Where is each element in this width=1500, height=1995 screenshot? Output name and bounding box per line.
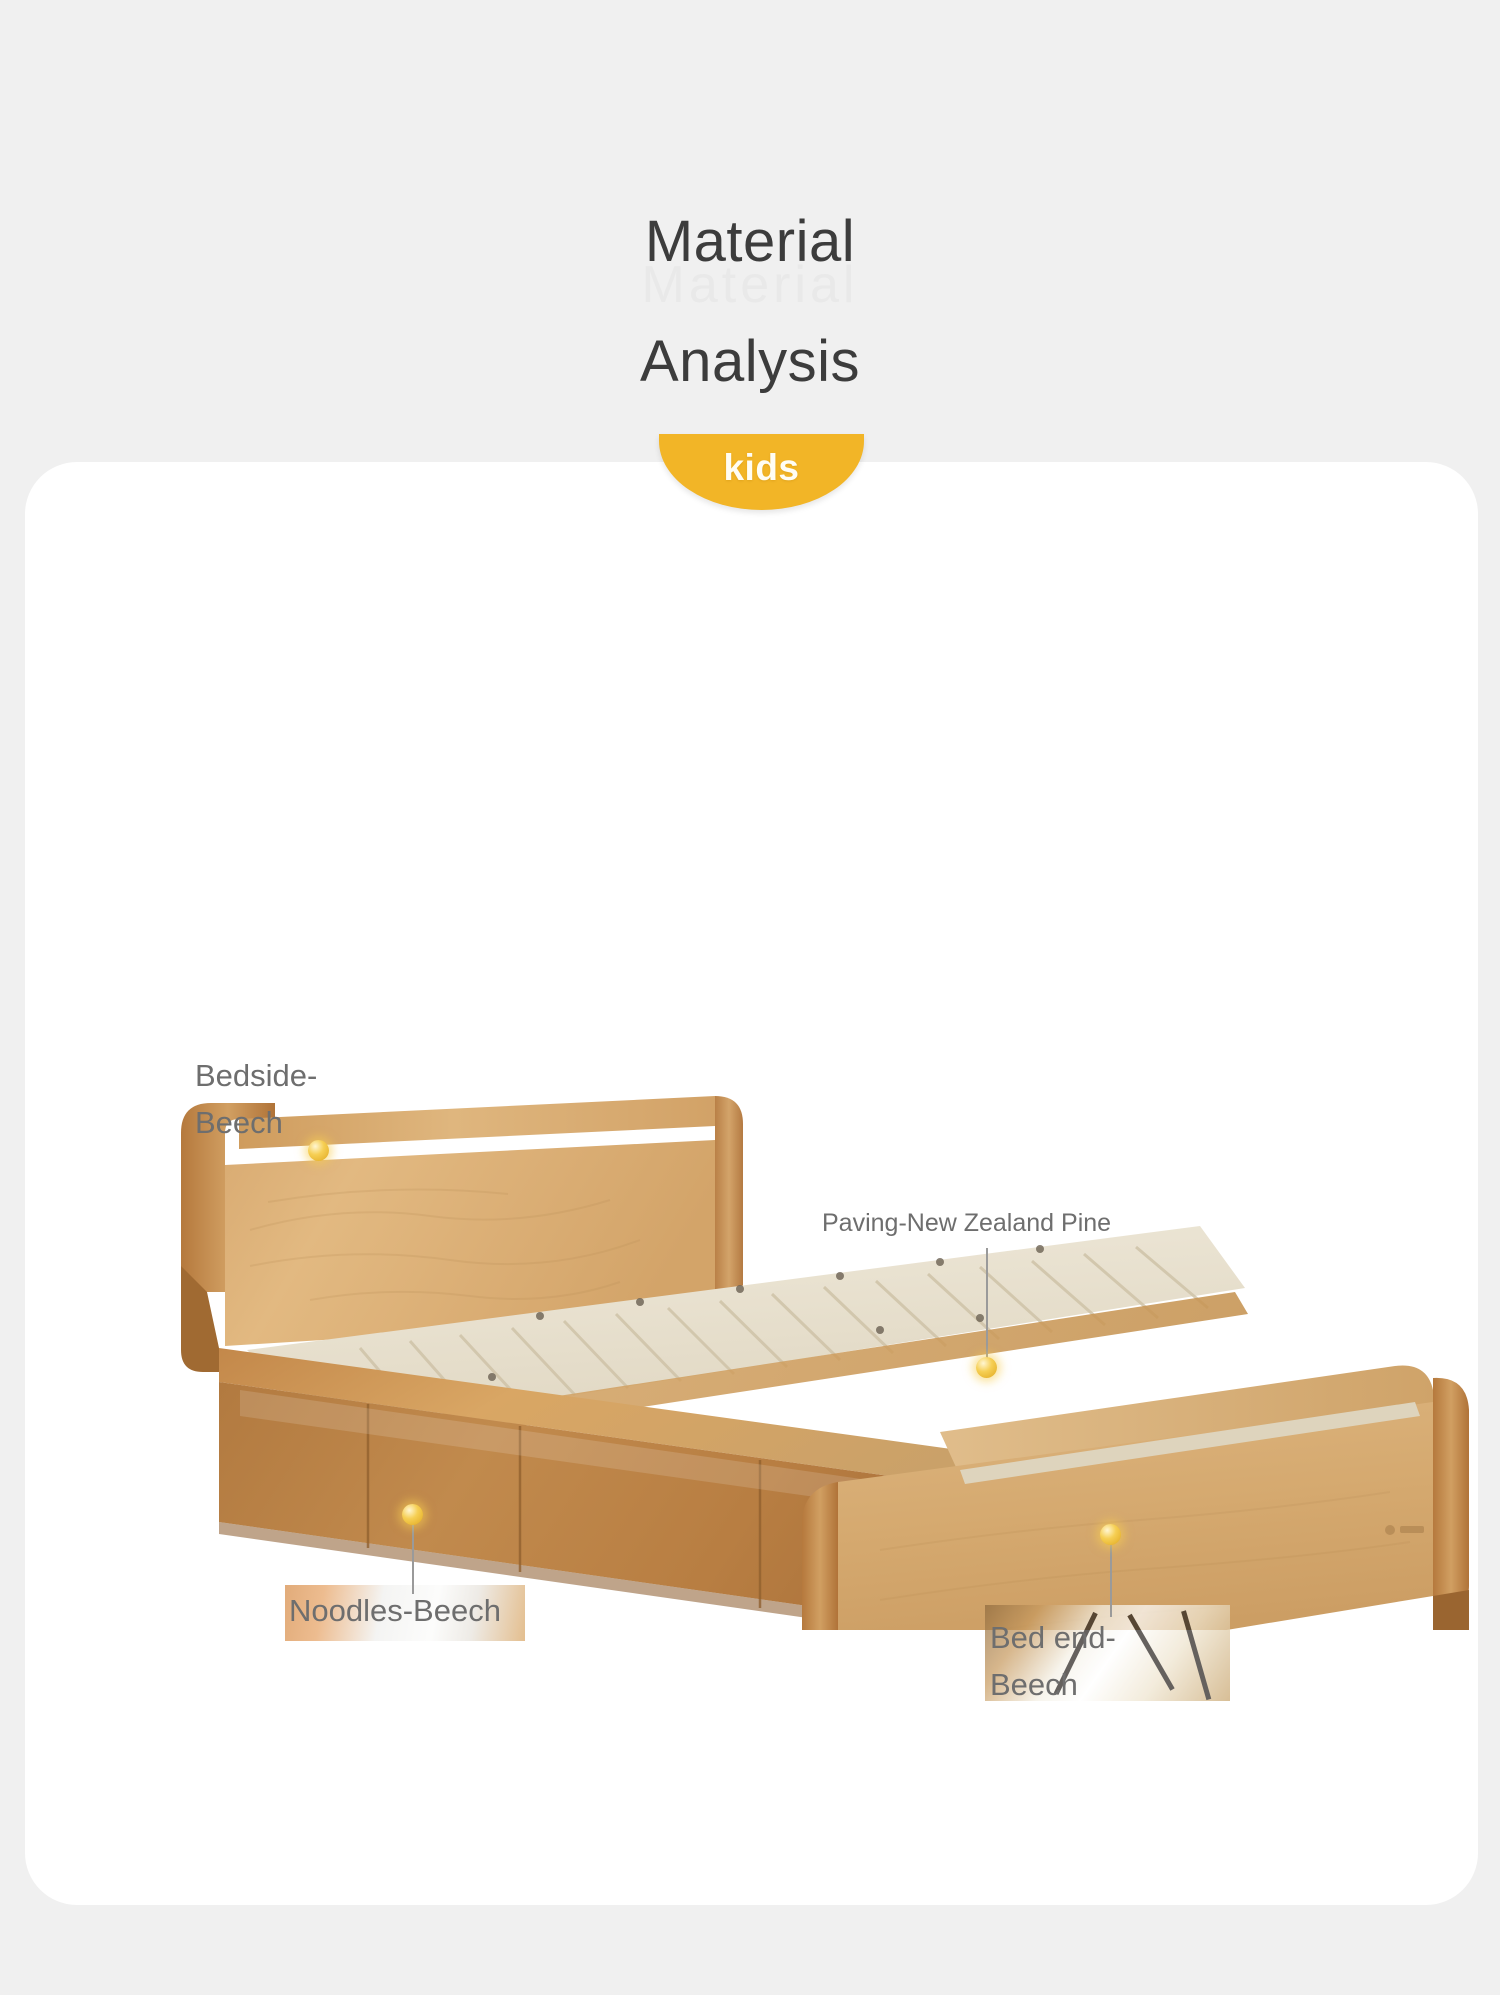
page-title-line-1: Material [0, 213, 1500, 271]
marker-dot-paving [976, 1357, 997, 1378]
callout-noodles: Noodles-Beech [289, 1593, 501, 1629]
marker-dot-noodles [402, 1504, 423, 1525]
marker-dot-bed-end [1100, 1524, 1121, 1545]
callout-bed-end-line-1: Bed end- [990, 1614, 1150, 1661]
callout-bedside-line-1: Bedside- [195, 1052, 395, 1099]
page-header: Material Material Analysis [0, 0, 1500, 462]
leader-line-paving [986, 1248, 988, 1368]
page-title-line-2: Analysis [0, 333, 1500, 391]
kids-badge-label: kids [723, 447, 799, 489]
callout-bedside: Bedside- Beech [195, 1052, 395, 1146]
callout-bed-end-line-2: Beech [990, 1661, 1150, 1708]
callout-bed-end: Bed end- Beech [990, 1614, 1150, 1708]
callout-bedside-line-2: Beech [195, 1099, 395, 1146]
callout-paving: Paving-New Zealand Pine [822, 1209, 1111, 1238]
